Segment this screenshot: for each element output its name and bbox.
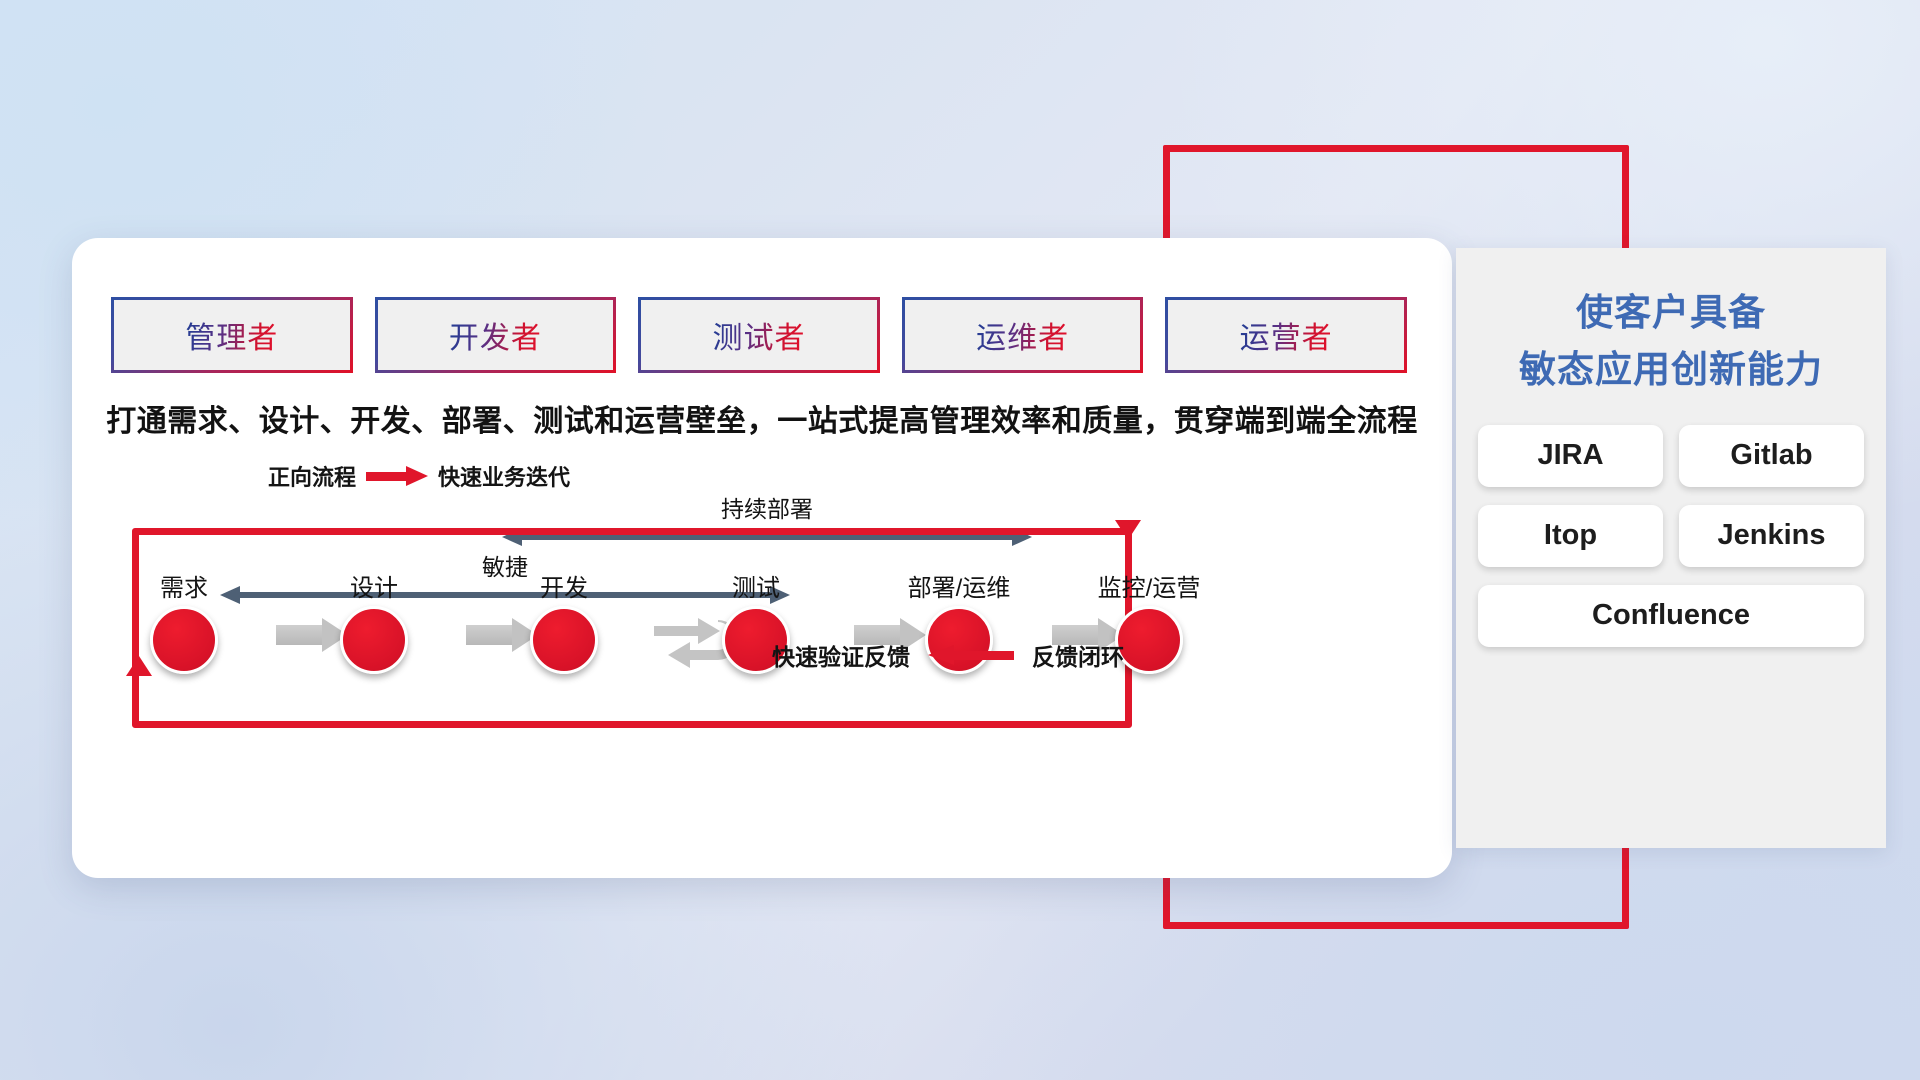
legend-feedback-target-label: 快速验证反馈 [772, 638, 910, 672]
pipeline-stage-design[interactable]: 设计 [304, 568, 444, 674]
role-box-business-operator[interactable]: 运营者 [1168, 300, 1404, 370]
tool-chip-confluence[interactable]: Confluence [1478, 585, 1864, 647]
role-label: 测试者 [712, 313, 805, 357]
role-box-tester[interactable]: 测试者 [641, 300, 877, 370]
stage-label: 开发 [494, 568, 634, 603]
legend-forward-source-label: 正向流程 [268, 460, 356, 492]
stage-dot-icon [340, 606, 408, 674]
tool-chip-itop[interactable]: Itop [1478, 505, 1663, 567]
legend-forward-flow: 正向流程 快速业务迭代 [268, 460, 570, 492]
tool-chip-jenkins[interactable]: Jenkins [1679, 505, 1864, 567]
stage-label: 监控/运营 [1079, 568, 1219, 603]
arrow-down-red-icon [1115, 520, 1141, 540]
outcome-panel: 使客户具备 敏态应用创新能力 JIRA Gitlab Itop Jenkins … [1456, 248, 1886, 848]
stage-dot-icon [1115, 606, 1183, 674]
pipeline: 需求 设计 开发 测试 部署/ [114, 568, 1414, 688]
legend-feedback-source-label: 反馈闭环 [1032, 638, 1124, 672]
role-label: 运营者 [1240, 313, 1333, 357]
role-label: 管理者 [185, 313, 278, 357]
legend-feedback-loop: 快速验证反馈 反馈闭环 [772, 638, 1124, 672]
tool-chip-list: JIRA Gitlab Itop Jenkins Confluence [1478, 425, 1864, 647]
arrow-left-red-icon [928, 645, 1014, 665]
panel-title: 使客户具备 敏态应用创新能力 [1456, 248, 1886, 399]
stage-label: 测试 [686, 568, 826, 603]
stage-label: 设计 [304, 568, 444, 603]
headline-text: 打通需求、设计、开发、部署、测试和运营壁垒，一站式提高管理效率和质量，贯穿端到端… [72, 396, 1452, 440]
stage-dot-icon [150, 606, 218, 674]
tool-chip-jira[interactable]: JIRA [1478, 425, 1663, 487]
pipeline-stage-development[interactable]: 开发 [494, 568, 634, 674]
stage-label: 需求 [114, 568, 254, 603]
arrow-right-red-icon [366, 466, 428, 486]
role-box-developer[interactable]: 开发者 [378, 300, 614, 370]
stage-label: 部署/运维 [889, 568, 1029, 603]
stage-dot-icon [530, 606, 598, 674]
main-diagram-card: 管理者 开发者 测试者 运维者 运营者 打通需求、设计、开发、部署、测试和运营壁… [72, 238, 1452, 878]
pipeline-stage-requirement[interactable]: 需求 [114, 568, 254, 674]
panel-title-line-1: 使客户具备 [1466, 284, 1876, 341]
role-box-manager[interactable]: 管理者 [114, 300, 350, 370]
role-label: 开发者 [449, 313, 542, 357]
legend-forward-target-label: 快速业务迭代 [438, 460, 570, 492]
role-label: 运维者 [976, 313, 1069, 357]
panel-title-line-2: 敏态应用创新能力 [1466, 341, 1876, 398]
span-continuous-deployment-label: 持续部署 [502, 490, 1032, 524]
role-box-operations-engineer[interactable]: 运维者 [905, 300, 1141, 370]
tool-chip-gitlab[interactable]: Gitlab [1679, 425, 1864, 487]
role-box-row: 管理者 开发者 测试者 运维者 运营者 [114, 300, 1404, 370]
